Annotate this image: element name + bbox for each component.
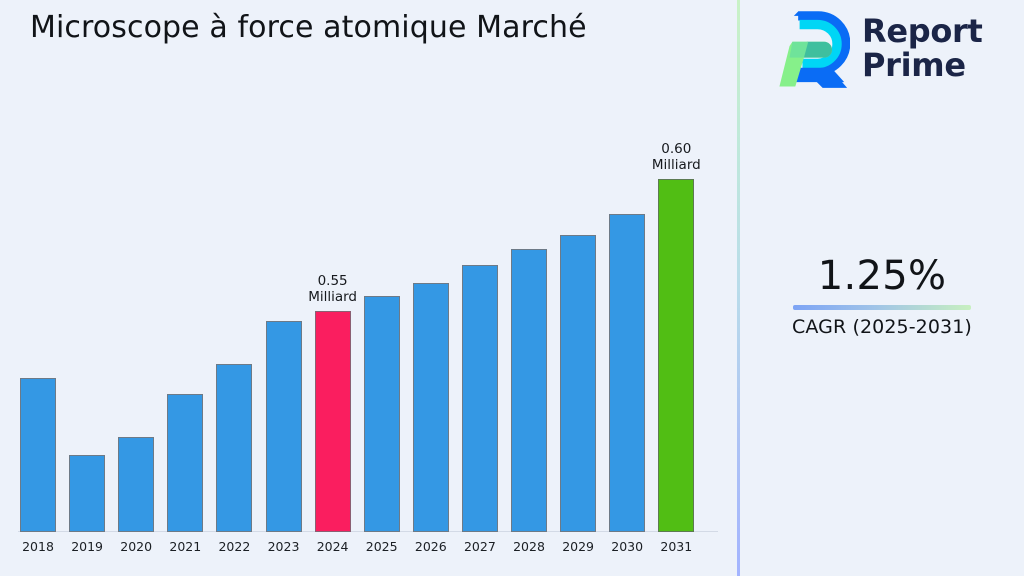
bar-2020 xyxy=(118,437,154,532)
bar-2028 xyxy=(511,249,547,532)
x-tick-2031: 2031 xyxy=(653,539,699,554)
bar-value-label-2031: 0.60 Milliard xyxy=(630,141,722,174)
bar-2030 xyxy=(609,214,645,532)
report-prime-logo-icon xyxy=(778,10,850,88)
cagr-value: 1.25% xyxy=(740,255,1024,297)
x-tick-2030: 2030 xyxy=(604,539,650,554)
cagr-caption: CAGR (2025-2031) xyxy=(740,316,1024,338)
bar-2021 xyxy=(167,394,203,532)
bar-2027 xyxy=(462,265,498,532)
info-panel: Report Prime 1.25% CAGR (2025-2031) xyxy=(740,0,1024,576)
x-tick-2027: 2027 xyxy=(457,539,503,554)
bar-2031 xyxy=(658,179,694,532)
x-tick-2021: 2021 xyxy=(162,539,208,554)
x-tick-2019: 2019 xyxy=(64,539,110,554)
x-tick-2029: 2029 xyxy=(555,539,601,554)
x-tick-2024: 2024 xyxy=(310,539,356,554)
bar-2024 xyxy=(315,311,351,532)
bar-chart-plot-area: 2018201920202021202220230.55 Milliard202… xyxy=(0,0,738,576)
x-tick-2025: 2025 xyxy=(359,539,405,554)
bar-2026 xyxy=(413,283,449,532)
bar-2019 xyxy=(69,455,105,532)
x-tick-2022: 2022 xyxy=(211,539,257,554)
bar-2023 xyxy=(266,321,302,532)
brand-logo: Report Prime xyxy=(778,10,983,88)
x-tick-2018: 2018 xyxy=(15,539,61,554)
bar-2018 xyxy=(20,378,56,532)
cagr-divider-rule xyxy=(793,305,971,310)
x-tick-2023: 2023 xyxy=(261,539,307,554)
chart-panel: Microscope à force atomique Marché 20182… xyxy=(0,0,738,576)
cagr-block: 1.25% CAGR (2025-2031) xyxy=(740,255,1024,338)
x-tick-2028: 2028 xyxy=(506,539,552,554)
x-tick-2020: 2020 xyxy=(113,539,159,554)
bar-2029 xyxy=(560,235,596,532)
x-tick-2026: 2026 xyxy=(408,539,454,554)
bar-2025 xyxy=(364,296,400,532)
bar-2022 xyxy=(216,364,252,532)
brand-name: Report Prime xyxy=(862,15,983,82)
